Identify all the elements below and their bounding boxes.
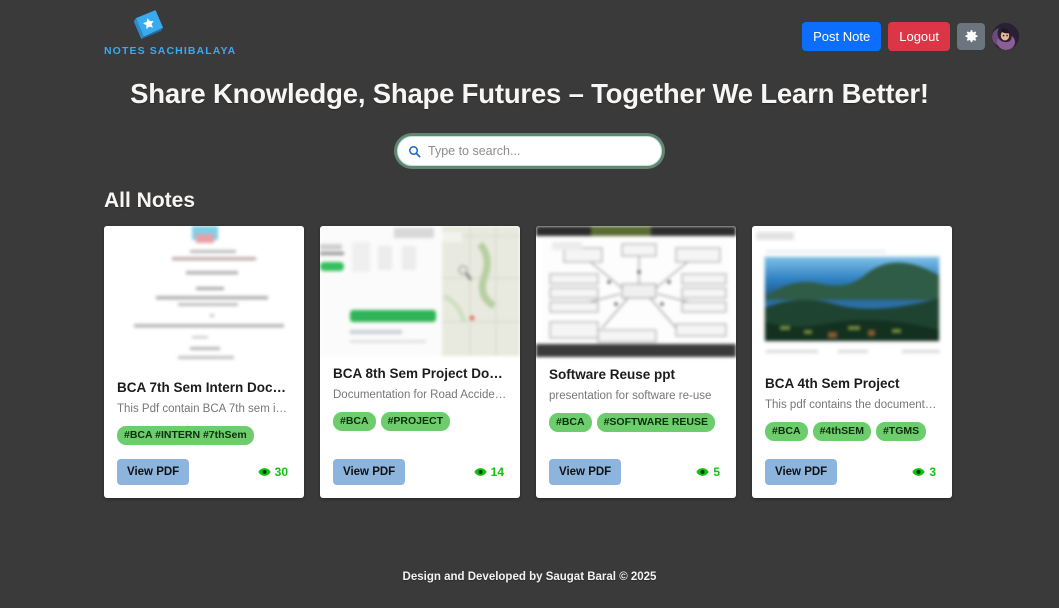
eye-icon bbox=[258, 467, 271, 477]
eye-icon bbox=[474, 467, 487, 477]
note-card-footer: View PDF 30 bbox=[117, 445, 291, 485]
note-tags: #BCA #SOFTWARE REUSE bbox=[549, 413, 723, 432]
search-box[interactable] bbox=[397, 136, 662, 166]
note-title: Software Reuse ppt bbox=[549, 367, 723, 382]
footer: Design and Developed by Saugat Baral © 2… bbox=[0, 571, 1059, 583]
document-with-landscape-photo-thumbnail bbox=[752, 226, 952, 366]
view-pdf-button[interactable]: View PDF bbox=[333, 459, 405, 485]
gear-icon bbox=[964, 29, 979, 44]
settings-button[interactable] bbox=[957, 23, 985, 50]
view-pdf-button[interactable]: View PDF bbox=[117, 459, 189, 485]
note-thumbnail bbox=[320, 226, 520, 356]
note-thumbnail bbox=[104, 226, 304, 370]
search-input[interactable] bbox=[428, 144, 651, 158]
note-card-footer: View PDF 5 bbox=[549, 445, 723, 485]
view-pdf-button[interactable]: View PDF bbox=[765, 459, 837, 485]
brand-logo[interactable]: NOTES SACHIBALAYA bbox=[104, 8, 194, 57]
post-note-button[interactable]: Post Note bbox=[802, 22, 881, 51]
note-description: This Pdf contain BCA 7th sem int… bbox=[117, 403, 291, 415]
search-bar bbox=[397, 136, 662, 166]
note-title: BCA 4th Sem Project bbox=[765, 376, 939, 391]
note-card-body: Software Reuse ppt presentation for soft… bbox=[536, 357, 736, 498]
note-card-footer: View PDF 14 bbox=[333, 445, 507, 485]
note-tag[interactable]: #BCA #INTERN #7thSem bbox=[117, 426, 254, 445]
note-tag[interactable]: #PROJECT bbox=[381, 412, 450, 431]
note-tag[interactable]: #TGMS bbox=[876, 422, 926, 441]
section-title: All Notes bbox=[104, 189, 1059, 213]
note-tag[interactable]: #BCA bbox=[333, 412, 376, 431]
note-thumbnail bbox=[752, 226, 952, 366]
note-description: This pdf contains the documenta… bbox=[765, 399, 939, 411]
note-description: Documentation for Road Acciden… bbox=[333, 389, 507, 401]
note-card-body: BCA 4th Sem Project This pdf contains th… bbox=[752, 366, 952, 498]
note-thumbnail bbox=[536, 226, 736, 357]
view-count: 14 bbox=[474, 465, 507, 479]
brand-name: NOTES SACHIBALAYA bbox=[104, 45, 194, 57]
note-tag[interactable]: #SOFTWARE REUSE bbox=[597, 413, 715, 432]
view-count-value: 30 bbox=[275, 465, 288, 479]
note-card[interactable]: BCA 7th Sem Intern Docu… This Pdf contai… bbox=[104, 226, 304, 498]
note-title: BCA 8th Sem Project Doc… bbox=[333, 366, 507, 381]
note-tag[interactable]: #BCA bbox=[549, 413, 592, 432]
note-description: presentation for software re-use bbox=[549, 390, 723, 402]
note-tag[interactable]: #BCA bbox=[765, 422, 808, 441]
eye-icon bbox=[912, 467, 925, 477]
note-card-body: BCA 7th Sem Intern Docu… This Pdf contai… bbox=[104, 370, 304, 498]
eye-icon bbox=[696, 467, 709, 477]
note-card-body: BCA 8th Sem Project Doc… Documentation f… bbox=[320, 356, 520, 498]
header-actions: Post Note Logout bbox=[802, 22, 1019, 51]
view-count: 3 bbox=[912, 465, 939, 479]
document-title-page-thumbnail bbox=[104, 226, 304, 370]
book-star-icon bbox=[130, 8, 168, 42]
avatar-image bbox=[992, 23, 1019, 50]
site-header: NOTES SACHIBALAYA Post Note Logout bbox=[0, 0, 1059, 68]
note-tags: #BCA #4thSEM #TGMS bbox=[765, 422, 939, 441]
note-title: BCA 7th Sem Intern Docu… bbox=[117, 380, 291, 395]
note-card[interactable]: BCA 8th Sem Project Doc… Documentation f… bbox=[320, 226, 520, 498]
note-tags: #BCA #INTERN #7thSem bbox=[117, 426, 291, 445]
page-title: Share Knowledge, Shape Futures – Togethe… bbox=[0, 78, 1059, 110]
note-tags: #BCA #PROJECT bbox=[333, 412, 507, 431]
search-icon bbox=[408, 145, 421, 158]
note-card[interactable]: BCA 4th Sem Project This pdf contains th… bbox=[752, 226, 952, 498]
notes-grid: BCA 7th Sem Intern Docu… This Pdf contai… bbox=[104, 226, 952, 498]
view-count-value: 5 bbox=[713, 465, 720, 479]
app-screenshot-with-map-thumbnail bbox=[320, 226, 520, 356]
view-count-value: 14 bbox=[491, 465, 504, 479]
note-tag[interactable]: #4thSEM bbox=[813, 422, 871, 441]
note-card[interactable]: Software Reuse ppt presentation for soft… bbox=[536, 226, 736, 498]
view-count-value: 3 bbox=[929, 465, 936, 479]
view-count: 30 bbox=[258, 465, 291, 479]
view-pdf-button[interactable]: View PDF bbox=[549, 459, 621, 485]
avatar[interactable] bbox=[992, 23, 1019, 50]
view-count: 5 bbox=[696, 465, 723, 479]
note-card-footer: View PDF 3 bbox=[765, 445, 939, 485]
slide-diagram-thumbnail bbox=[536, 226, 736, 357]
logout-button[interactable]: Logout bbox=[888, 22, 950, 51]
